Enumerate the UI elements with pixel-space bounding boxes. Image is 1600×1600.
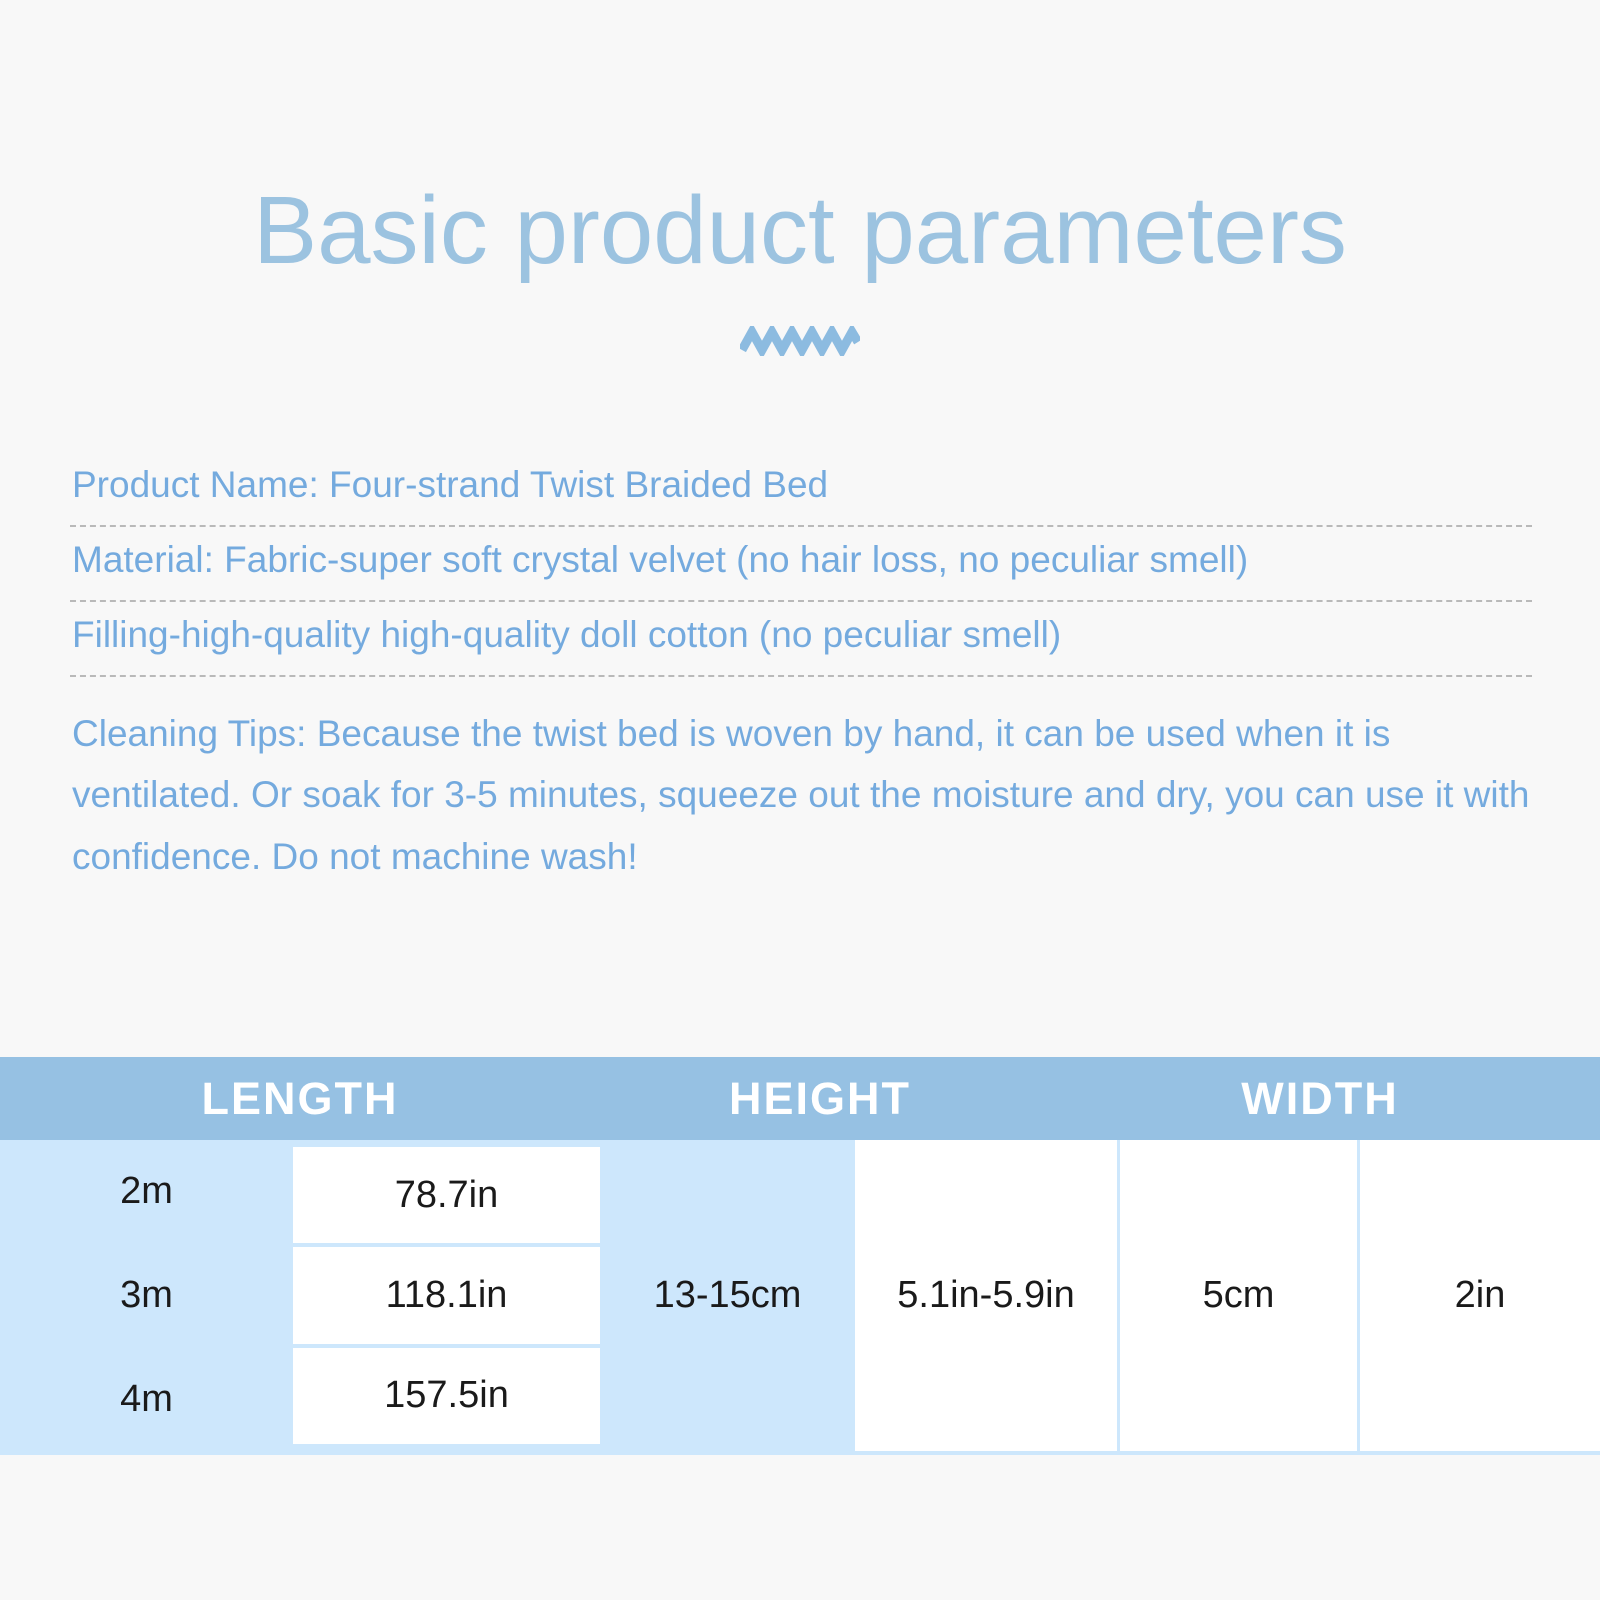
size-table-body: 2m 3m 4m 78.7in 118.1in 157.5in 13-15cm … <box>0 1140 1600 1455</box>
zigzag-wave-icon <box>740 326 860 356</box>
spec-row-filling: Filling-high-quality high-quality doll c… <box>70 602 1532 677</box>
table-cell-length-imperial: 157.5in <box>293 1348 600 1444</box>
spec-row-material: Material: Fabric-super soft crystal velv… <box>70 527 1532 602</box>
table-cell-length-imperial: 118.1in <box>293 1247 600 1343</box>
spec-row-cleaning-tips: Cleaning Tips: Because the twist bed is … <box>70 677 1532 888</box>
column-header-length: LENGTH <box>0 1073 600 1125</box>
column-header-width: WIDTH <box>1040 1073 1600 1125</box>
table-cell-length-metric: 2m <box>0 1140 293 1244</box>
page-title: Basic product parameters <box>0 178 1600 284</box>
zigzag-divider <box>0 326 1600 356</box>
size-table-header-row: LENGTH HEIGHT WIDTH <box>0 1057 1600 1140</box>
table-cell-length-metric: 3m <box>0 1244 293 1348</box>
table-cell-height-metric: 13-15cm <box>600 1140 855 1451</box>
spec-row-product-name: Product Name: Four-strand Twist Braided … <box>70 452 1532 527</box>
table-cell-length-metric: 4m <box>0 1347 293 1451</box>
page-header: Basic product parameters <box>0 0 1600 356</box>
table-cell-width-imperial: 2in <box>1360 1140 1600 1451</box>
table-cell-width-metric: 5cm <box>1120 1140 1360 1451</box>
table-cell-height-imperial: 5.1in-5.9in <box>855 1140 1120 1451</box>
column-header-height: HEIGHT <box>600 1073 1040 1125</box>
length-imperial-column: 78.7in 118.1in 157.5in <box>293 1140 600 1451</box>
size-table: LENGTH HEIGHT WIDTH 2m 3m 4m 78.7in 118.… <box>0 1057 1600 1455</box>
length-metric-column: 2m 3m 4m <box>0 1140 293 1451</box>
spec-list: Product Name: Four-strand Twist Braided … <box>0 452 1600 888</box>
table-cell-length-imperial: 78.7in <box>293 1147 600 1243</box>
